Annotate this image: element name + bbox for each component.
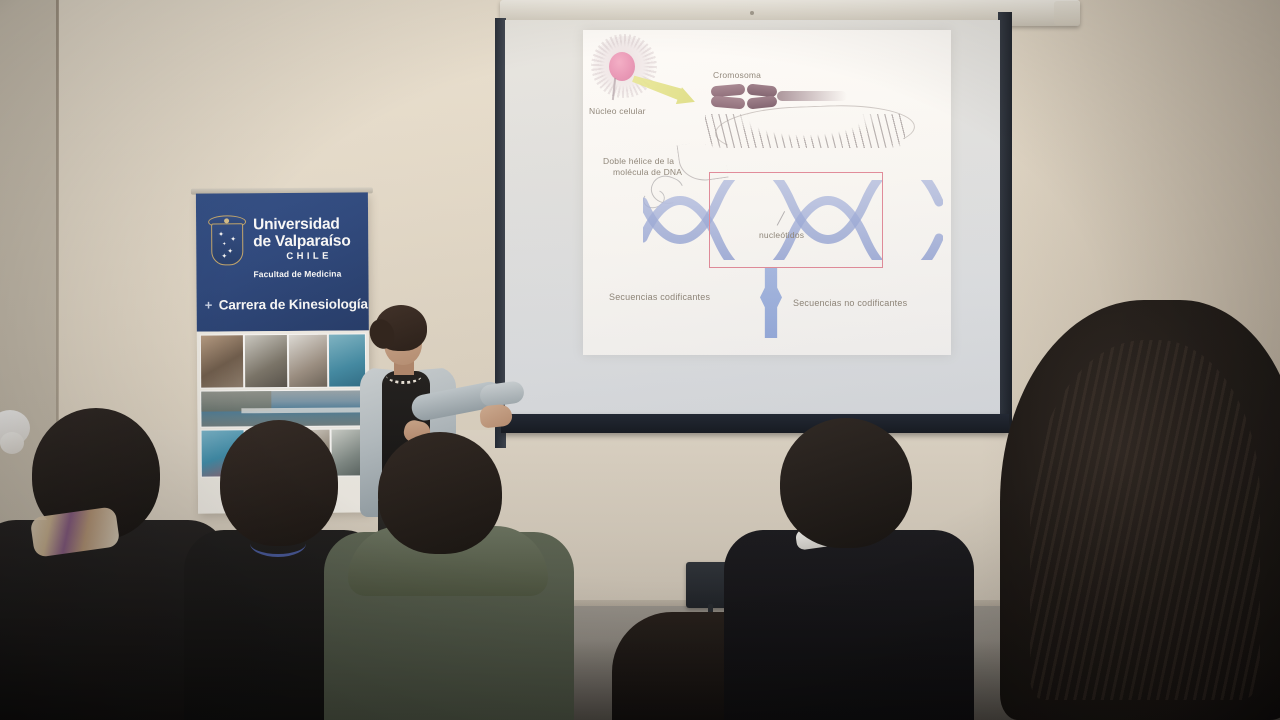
chromatin-hatching	[705, 114, 905, 148]
label-noncoding-sequences: Secuencias no codificantes	[793, 298, 907, 308]
presenter-pointing-hand	[479, 403, 513, 428]
label-nucleus: Núcleo celular	[589, 106, 646, 116]
label-chromosome: Cromosoma	[713, 70, 761, 80]
genetics-diagram-slide: Núcleo celular Cromosoma Doble hélice de…	[583, 30, 951, 355]
blue-double-arrow-icon	[760, 268, 782, 338]
screen-housing-screw	[750, 11, 754, 15]
banner-title-line2: de Valparaíso	[253, 233, 350, 250]
hair-strands	[1030, 340, 1260, 700]
audience-body	[724, 530, 974, 720]
collage-photo-classroom	[201, 335, 243, 387]
lecture-hall-photo: Núcleo celular Cromosoma Doble hélice de…	[0, 0, 1280, 720]
audience-member-foreground-right	[1000, 300, 1280, 720]
audience-head	[378, 432, 502, 554]
projection-screen: Núcleo celular Cromosoma Doble hélice de…	[495, 0, 1010, 452]
hair-clip-lower	[0, 432, 24, 454]
banner-university-name: Universidad de Valparaíso	[253, 217, 351, 251]
audience-head	[220, 420, 338, 546]
banner-header-panel: ✦ ✦ ✦ ✦ ✦ Universidad de Valparaíso CHIL…	[196, 192, 369, 331]
banner-faculty: Facultad de Medicina	[253, 269, 341, 280]
lanyard	[250, 530, 306, 557]
banner-country: CHILE	[286, 251, 332, 262]
banner-plus-marker: +	[205, 297, 213, 312]
screen-edge-right	[998, 12, 1012, 432]
audience-member-hoodie	[330, 432, 560, 720]
nucleus-icon	[609, 52, 635, 81]
presenter-necklace	[386, 367, 422, 384]
screen-housing-cap	[1054, 1, 1080, 25]
university-crest-icon: ✦ ✦ ✦ ✦ ✦	[209, 215, 243, 263]
banner-program: Carrera de Kinesiología	[219, 296, 368, 312]
banner-title-line1: Universidad	[253, 217, 350, 234]
audience-head	[780, 418, 912, 548]
label-coding-sequences: Secuencias codificantes	[609, 292, 710, 302]
chromosome-icon	[711, 85, 785, 109]
collage-photo-group	[245, 335, 287, 387]
label-nucleotides: nucleótidos	[759, 230, 804, 240]
audience-member-suit	[740, 418, 960, 720]
label-dna-helix-line2: molécula de DNA	[613, 167, 682, 177]
label-dna-helix-line1: Doble hélice de la	[603, 156, 674, 166]
collage-photo-workshop	[289, 335, 327, 387]
